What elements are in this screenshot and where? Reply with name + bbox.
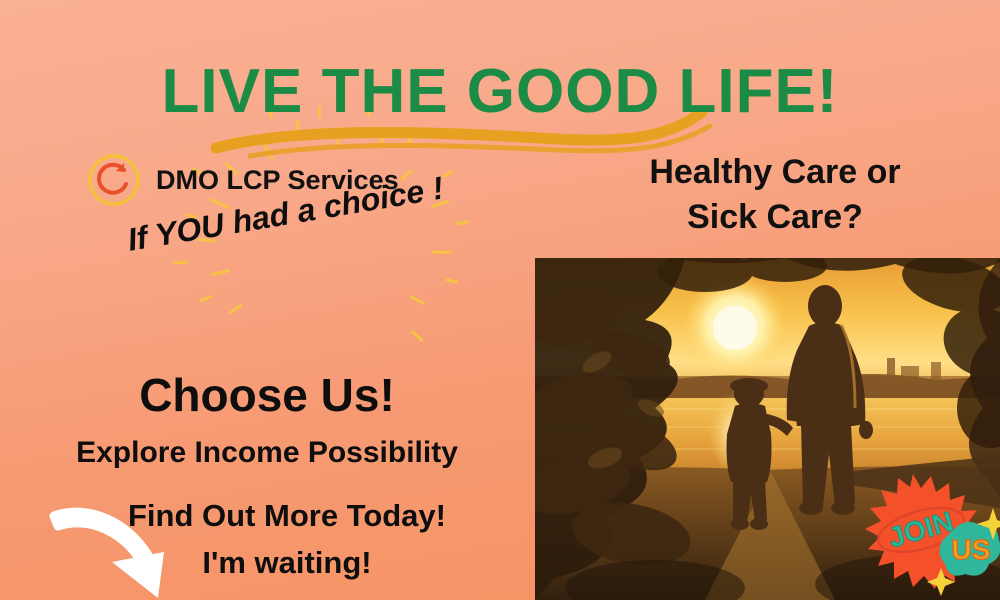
ray-dash xyxy=(173,260,188,265)
ray-dash xyxy=(404,130,419,146)
question-line-2: Sick Care? xyxy=(600,195,950,240)
ray-dash xyxy=(232,136,242,148)
question-heading: Healthy Care or Sick Care? xyxy=(600,150,950,240)
question-line-1: Healthy Care or xyxy=(600,150,950,195)
ray-dash xyxy=(228,303,243,315)
ray-dash xyxy=(442,170,454,179)
income-subline: Explore Income Possibility xyxy=(0,436,534,470)
ray-dash xyxy=(455,220,469,225)
page-title: LIVE THE GOOD LIFE! xyxy=(0,56,1000,127)
ray-dash xyxy=(336,126,342,146)
circular-arrow-logo-icon xyxy=(86,152,142,208)
radial-ray-decoration xyxy=(318,248,320,250)
ray-dash xyxy=(199,295,212,303)
join-us-badge[interactable]: JOIN US xyxy=(855,468,1000,600)
choose-us-heading: Choose Us! xyxy=(0,368,534,422)
ray-dash xyxy=(411,330,424,342)
promotional-banner: LIVE THE GOOD LIFE! DMO LCP Services If … xyxy=(0,0,1000,600)
ray-dash xyxy=(445,278,458,284)
ray-dash xyxy=(431,250,451,254)
us-label: US xyxy=(952,534,991,565)
curved-down-right-arrow-icon xyxy=(46,490,196,600)
ray-dash xyxy=(210,269,230,277)
ray-dash xyxy=(376,136,385,149)
ray-dash xyxy=(409,295,425,306)
